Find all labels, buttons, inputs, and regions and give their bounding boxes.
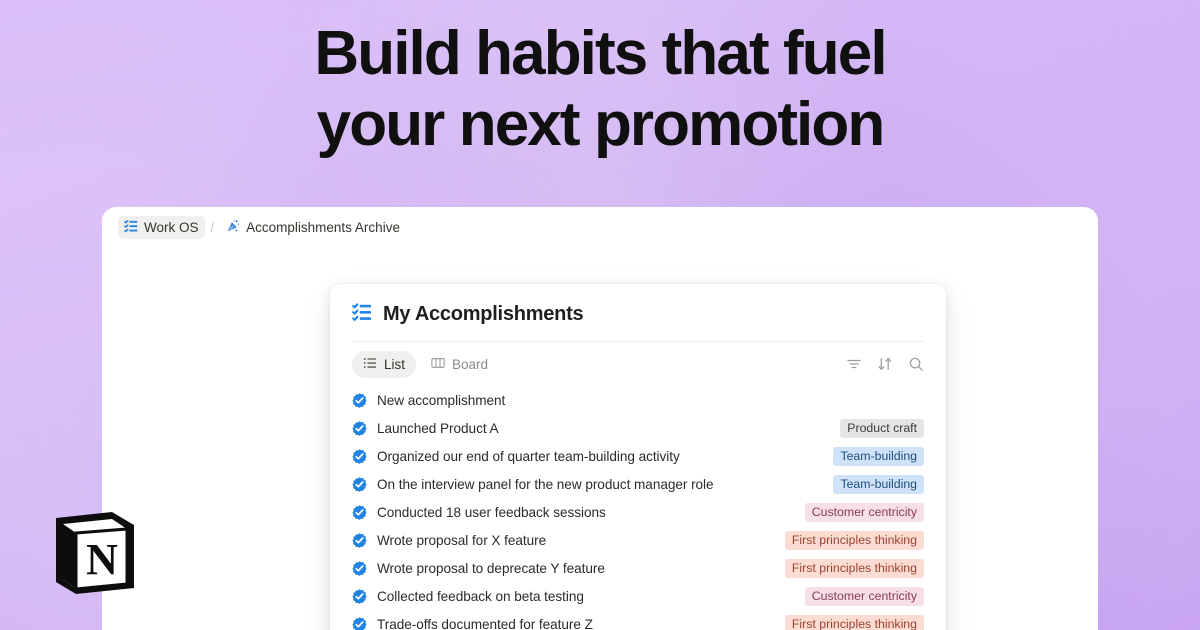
verified-check-icon xyxy=(352,505,367,520)
list-item-title: Launched Product A xyxy=(377,421,499,436)
list-item-title: On the interview panel for the new produ… xyxy=(377,477,714,492)
list-item-tag: First principles thinking xyxy=(785,559,924,578)
list-item-8[interactable]: Trade-offs documented for feature Z Firs… xyxy=(352,610,924,630)
list-item-tag: Team-building xyxy=(833,475,924,494)
database-card: My Accomplishments List xyxy=(330,284,946,630)
breadcrumb-label: Accomplishments Archive xyxy=(246,220,400,235)
verified-check-icon xyxy=(352,449,367,464)
notion-logo: N xyxy=(50,508,138,598)
list-item-title: Wrote proposal for X feature xyxy=(377,533,546,548)
list-item-4[interactable]: Conducted 18 user feedback sessions Cust… xyxy=(352,498,924,526)
database-title: My Accomplishments xyxy=(383,303,583,326)
search-icon[interactable] xyxy=(908,356,924,372)
breadcrumb-separator: / xyxy=(210,220,216,235)
verified-check-icon xyxy=(352,393,367,408)
board-icon xyxy=(431,356,445,373)
confetti-icon xyxy=(226,219,240,236)
breadcrumb-item-accomplishments-archive[interactable]: Accomplishments Archive xyxy=(220,216,406,239)
verified-check-icon xyxy=(352,589,367,604)
verified-check-icon xyxy=(352,561,367,576)
list-item-3[interactable]: On the interview panel for the new produ… xyxy=(352,470,924,498)
list-item-tag: First principles thinking xyxy=(785,531,924,550)
notion-logo-letter: N xyxy=(86,535,118,584)
tab-board[interactable]: Board xyxy=(420,351,499,378)
list-item-title: Conducted 18 user feedback sessions xyxy=(377,505,606,520)
verified-check-icon xyxy=(352,617,367,630)
list-icon xyxy=(363,356,377,373)
verified-check-icon xyxy=(352,533,367,548)
list-item-title: Trade-offs documented for feature Z xyxy=(377,617,593,630)
view-toolbar: List Board xyxy=(352,342,924,386)
list-item-7[interactable]: Collected feedback on beta testing Custo… xyxy=(352,582,924,610)
page-title: Build habits that fuel your next promoti… xyxy=(0,18,1200,160)
filter-icon[interactable] xyxy=(846,356,862,372)
list-item-title: Organized our end of quarter team-buildi… xyxy=(377,449,680,464)
breadcrumb-item-work-os[interactable]: Work OS xyxy=(118,216,205,239)
sort-icon[interactable] xyxy=(877,356,893,372)
list-item-tag: Customer centricity xyxy=(805,587,924,606)
list-item-title: New accomplishment xyxy=(377,393,505,408)
list-item-tag: First principles thinking xyxy=(785,615,924,630)
headline-line-2: your next promotion xyxy=(0,89,1200,160)
list-item-1[interactable]: Launched Product A Product craft xyxy=(352,414,924,442)
headline-line-1: Build habits that fuel xyxy=(0,18,1200,89)
tab-list-label: List xyxy=(384,357,405,372)
app-window: Work OS / Accomplishments Archive xyxy=(102,207,1098,630)
list-item-5[interactable]: Wrote proposal for X feature First princ… xyxy=(352,526,924,554)
tab-list[interactable]: List xyxy=(352,351,416,378)
breadcrumb: Work OS / Accomplishments Archive xyxy=(102,207,1098,247)
list-item-tag: Customer centricity xyxy=(805,503,924,522)
tab-board-label: Board xyxy=(452,357,488,372)
accomplishments-list: New accomplishment Launched Product A Pr… xyxy=(352,386,924,630)
list-item-6[interactable]: Wrote proposal to deprecate Y feature Fi… xyxy=(352,554,924,582)
view-actions xyxy=(846,356,924,372)
list-item-tag: Product craft xyxy=(840,419,924,438)
list-item-tag: Team-building xyxy=(833,447,924,466)
database-title-row: My Accomplishments xyxy=(352,284,924,342)
verified-check-icon xyxy=(352,421,367,436)
list-item-title: Wrote proposal to deprecate Y feature xyxy=(377,561,605,576)
verified-check-icon xyxy=(352,477,367,492)
list-item-2[interactable]: Organized our end of quarter team-buildi… xyxy=(352,442,924,470)
checklist-icon xyxy=(124,219,138,236)
list-item-title: Collected feedback on beta testing xyxy=(377,589,584,604)
list-item-0[interactable]: New accomplishment xyxy=(352,386,924,414)
breadcrumb-label: Work OS xyxy=(144,220,199,235)
checklist-icon xyxy=(352,302,372,327)
